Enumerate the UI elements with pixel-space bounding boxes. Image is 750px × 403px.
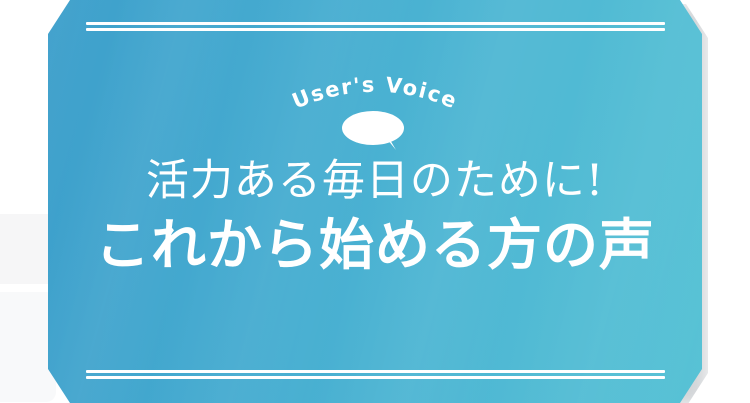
speech-bubble-icon xyxy=(341,110,409,150)
top-double-rule xyxy=(86,22,665,31)
eyebrow-label: User's Voice xyxy=(289,73,462,114)
headline-block: 活力ある毎日のために! これから始める方の声 xyxy=(48,160,702,272)
bottom-double-rule xyxy=(86,370,665,379)
background-blob-lower xyxy=(0,292,56,402)
rule-line xyxy=(86,28,665,31)
banner-stage: User's Voice 活力ある毎日のために! これから始める方の声 xyxy=(0,0,750,403)
headline-line-1: 活力ある毎日のために! xyxy=(48,160,702,209)
eyebrow-arched-heading: User's Voice xyxy=(48,58,702,114)
rule-line xyxy=(86,370,665,373)
beveled-banner-panel: User's Voice 活力ある毎日のために! これから始める方の声 xyxy=(48,0,702,403)
headline-line-2: これから始める方の声 xyxy=(48,209,702,272)
rule-line xyxy=(86,376,665,379)
rule-line xyxy=(86,22,665,25)
